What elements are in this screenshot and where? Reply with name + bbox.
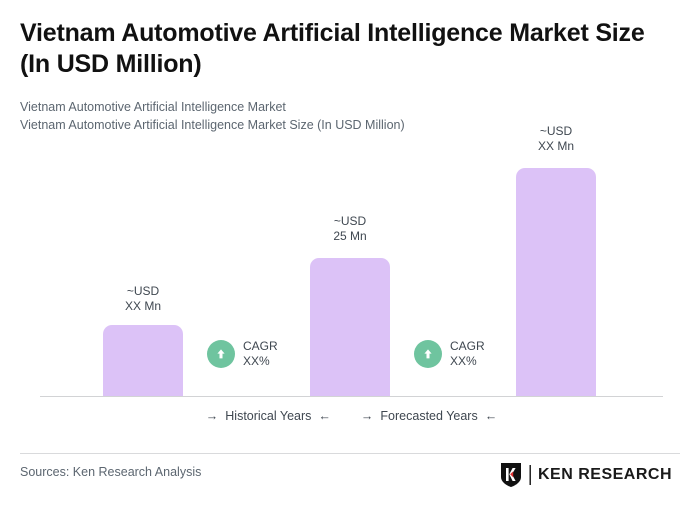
chart-page: Vietnam Automotive Artificial Intelligen… (0, 0, 700, 520)
bar-mid[interactable] (310, 258, 390, 396)
plot-area: ~USD XX Mn ~USD 25 Mn ~USD XX Mn CAGRXX%… (0, 0, 700, 440)
sources-text: Sources: Ken Research Analysis (20, 465, 201, 479)
year-band-forecasted-label: Forecasted Years (380, 409, 477, 423)
cagr-label-1: CAGRXX% (243, 339, 278, 368)
cagr-value-2: XX% (450, 354, 477, 368)
bar-value-label-1: ~USD XX Mn (103, 284, 183, 313)
ken-research-shield-icon (500, 462, 522, 488)
bar-value-label-2: ~USD 25 Mn (310, 214, 390, 243)
year-band-forecasted: → Forecasted Years ← (361, 409, 497, 423)
cagr-label-2: CAGRXX% (450, 339, 485, 368)
year-bands: → Historical Years ← → Forecasted Years … (40, 409, 663, 423)
x-axis-line (40, 396, 663, 397)
cagr-badge-1[interactable]: CAGRXX% (207, 339, 278, 368)
brand-logo: KEN RESEARCH (500, 462, 672, 488)
arrow-up-icon (414, 340, 442, 368)
cagr-title-1: CAGR (243, 339, 278, 353)
arrow-right-icon: → (206, 409, 219, 423)
year-band-historical: → Historical Years ← (206, 409, 331, 423)
bar-value-label-3: ~USD XX Mn (516, 124, 596, 153)
footer-divider (20, 453, 680, 454)
bar-forecast[interactable] (516, 168, 596, 396)
year-band-historical-label: Historical Years (225, 409, 311, 423)
cagr-value-1: XX% (243, 354, 270, 368)
arrow-right-icon: → (361, 409, 374, 423)
arrow-left-icon: ← (485, 409, 498, 423)
arrow-up-icon (207, 340, 235, 368)
arrow-left-icon: ← (318, 409, 331, 423)
logo-divider-icon (528, 465, 532, 485)
brand-name-text: KEN RESEARCH (538, 466, 672, 484)
cagr-title-2: CAGR (450, 339, 485, 353)
bar-historical[interactable] (103, 325, 183, 396)
cagr-badge-2[interactable]: CAGRXX% (414, 339, 485, 368)
